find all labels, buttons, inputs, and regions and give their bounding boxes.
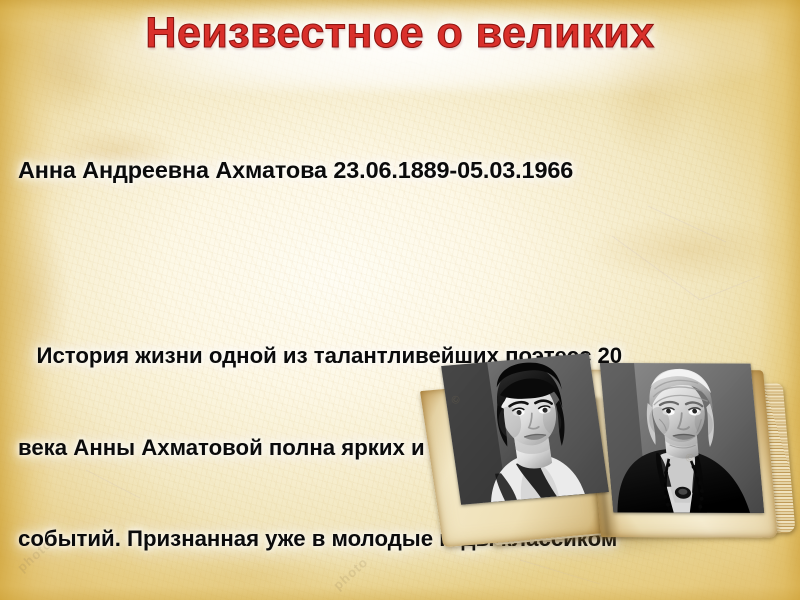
- article-text-column: Анна Андреевна Ахматова 23.06.1889-05.03…: [18, 62, 786, 600]
- subject-name-and-dates: Анна Андреевна Ахматова 23.06.1889-05.03…: [18, 154, 786, 186]
- slide-headline: Неизвестное о великих: [0, 8, 800, 58]
- paragraph-1: История жизни одной из талантливейших по…: [18, 280, 786, 600]
- text-line: века Анны Ахматовой полна ярких и трагич…: [18, 433, 786, 464]
- text-line: История жизни одной из талантливейших по…: [18, 341, 786, 372]
- slide-canvas: Неизвестное о великих Анна Андреевна Ахм…: [0, 0, 800, 600]
- text-line: событий. Признанная уже в молодые годы к…: [18, 524, 786, 555]
